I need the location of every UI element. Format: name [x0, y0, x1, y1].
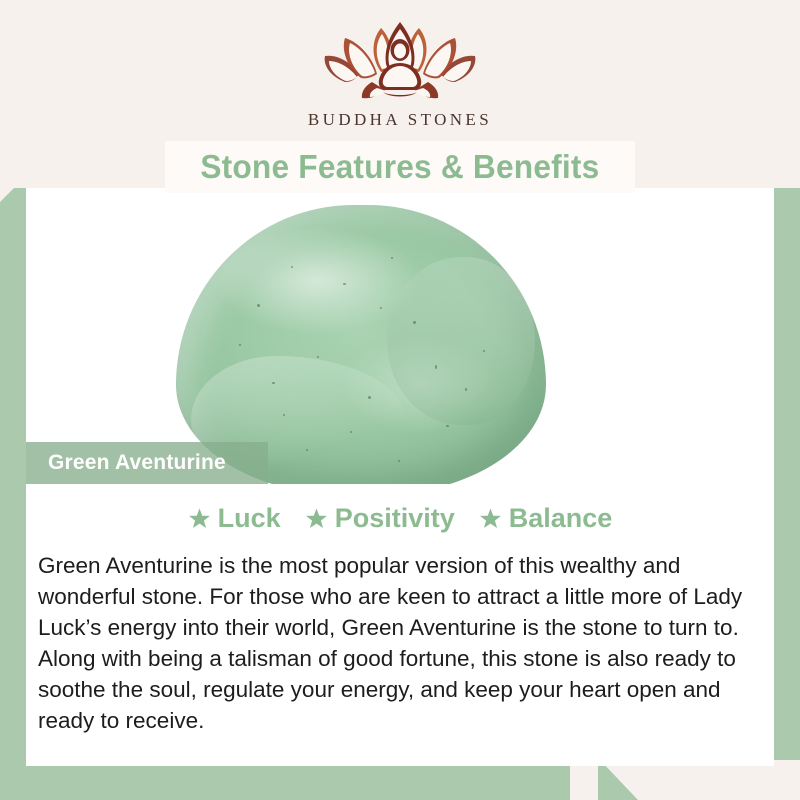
frame-right-accent	[774, 188, 800, 766]
star-icon	[305, 507, 328, 530]
product-description: Green Aventurine is the most popular ver…	[38, 550, 764, 736]
benefit-item: Luck	[188, 503, 281, 534]
frame-bottom-accent	[0, 760, 625, 800]
benefit-item: Positivity	[305, 503, 455, 534]
section-title-banner: Stone Features & Benefits	[165, 141, 635, 193]
benefit-label: Balance	[509, 503, 613, 534]
stone-facet-highlight-b	[387, 257, 535, 425]
product-name-label: Green Aventurine	[26, 451, 226, 475]
frame-left-accent	[0, 188, 26, 766]
star-icon	[188, 507, 211, 530]
product-photo: Green Aventurine	[26, 188, 774, 484]
page-title: Stone Features & Benefits	[200, 148, 599, 186]
brand-name: BUDDHA STONES	[308, 110, 492, 130]
lotus-meditation-logo-icon	[315, 20, 485, 106]
star-icon	[479, 507, 502, 530]
benefit-label: Positivity	[335, 503, 455, 534]
product-name-band: Green Aventurine	[26, 442, 268, 484]
content-card: Green Aventurine Luck Positivity	[26, 188, 774, 766]
benefit-item: Balance	[479, 503, 613, 534]
benefit-label: Luck	[218, 503, 281, 534]
benefits-row: Luck Positivity Balance	[26, 498, 774, 538]
brand-logo: BUDDHA STONES	[0, 20, 800, 130]
infographic-page: BUDDHA STONES	[0, 0, 800, 800]
